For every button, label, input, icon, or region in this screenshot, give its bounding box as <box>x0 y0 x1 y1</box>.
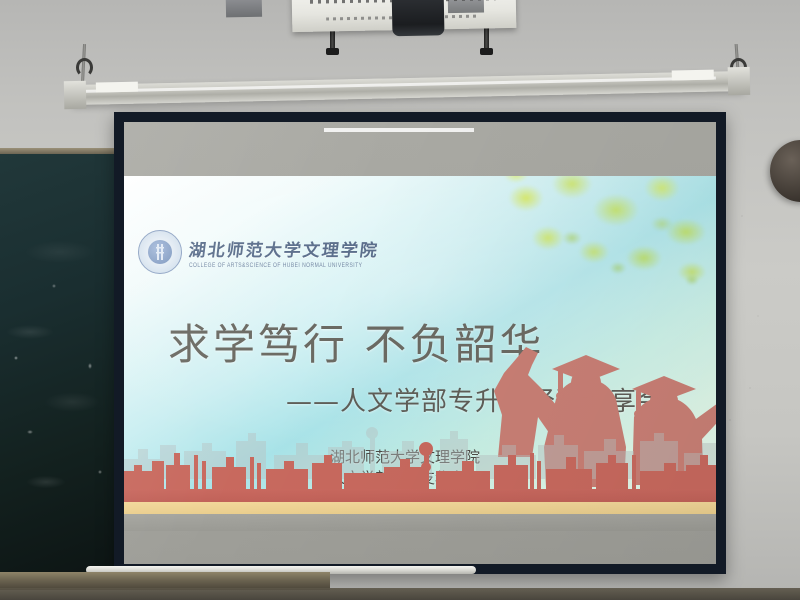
projector-side-right <box>448 0 484 13</box>
slide-band-red <box>124 489 716 503</box>
projector-mount-foot-left <box>326 48 339 55</box>
blackboard-frame-top <box>0 148 118 154</box>
projector-side-left <box>226 0 262 17</box>
university-name-en: COLLEGE OF ARTS&SCIENCE OF HUBEI NORMAL … <box>189 262 379 270</box>
tree-foliage-detail <box>542 184 716 304</box>
screen-top-glare <box>324 128 474 132</box>
city-skyline-front <box>124 435 716 491</box>
roller-label-left <box>96 82 138 93</box>
classroom-scene: 湖北师范大学文理学院 COLLEGE OF ARTS&SCIENCE OF HU… <box>0 0 800 600</box>
tree-foliage-icon <box>486 176 716 308</box>
roller-end-cap-left <box>64 81 87 109</box>
presentation-slide: 湖北师范大学文理学院 COLLEGE OF ARTS&SCIENCE OF HU… <box>124 176 716 531</box>
university-logo-text: 湖北师范大学文理学院 COLLEGE OF ARTS&SCIENCE OF HU… <box>189 236 379 268</box>
projector-lens-icon <box>392 0 445 36</box>
university-crest-icon <box>138 230 182 274</box>
chalk-tray-lower <box>0 588 800 600</box>
university-name-cn: 湖北师范大学文理学院 <box>187 236 380 261</box>
blackboard <box>0 152 118 572</box>
screen-hook-left-icon <box>76 58 93 77</box>
projection-screen-surface[interactable]: 湖北师范大学文理学院 COLLEGE OF ARTS&SCIENCE OF HU… <box>124 122 716 564</box>
roller-label-right <box>672 70 714 81</box>
university-logo: 湖北师范大学文理学院 COLLEGE OF ARTS&SCIENCE OF HU… <box>138 230 379 274</box>
roller-end-cap-right <box>728 67 751 95</box>
slide-band-grey <box>124 514 716 531</box>
ceiling-projector <box>292 0 517 32</box>
projector-mount-foot-right <box>480 48 493 55</box>
